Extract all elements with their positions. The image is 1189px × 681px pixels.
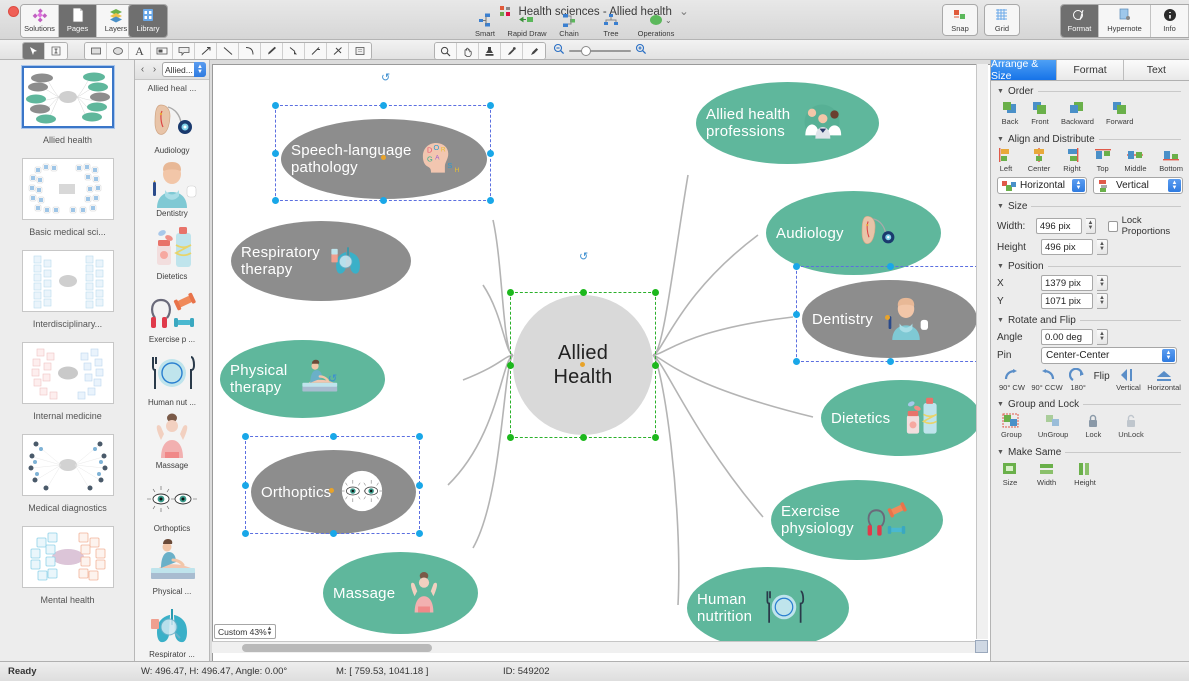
same-width-icon	[1038, 461, 1056, 477]
distribute-horizontal-stepper-icon[interactable]: ▲▼	[1072, 179, 1085, 192]
svg-text:O: O	[433, 142, 439, 151]
node-label: Orthoptics	[261, 484, 331, 501]
smart-connector-icon[interactable]	[283, 43, 305, 59]
canvas-zoom-value: Custom 43%	[218, 627, 267, 637]
inspector-panel[interactable]: Arrange & Size Format Text ▼ Order Back	[990, 60, 1189, 661]
align-middle-button[interactable]: Middle	[1124, 147, 1146, 173]
pin-stepper-icon[interactable]: ▲▼	[1162, 349, 1175, 362]
zoom-slider[interactable]	[569, 45, 631, 57]
library-item-label: Orthoptics	[154, 524, 190, 533]
distribute-vertical-icon	[1098, 180, 1112, 192]
x-input[interactable]: 1379 pix	[1041, 275, 1093, 291]
library-item-human-nutrition[interactable]: Human nut ...	[135, 347, 209, 410]
page-thumbnail	[22, 434, 114, 496]
node-exercise-physiology[interactable]: Exercisephysiology	[771, 480, 943, 560]
node-pin-dot	[381, 155, 386, 160]
page-thumbnail	[22, 526, 114, 588]
library-item-massage[interactable]: Massage	[135, 410, 209, 473]
angle-stepper-icon[interactable]: ▲▼	[1097, 329, 1108, 345]
align-bottom-label: Bottom	[1159, 164, 1183, 173]
section-header-order[interactable]: ▼ Order	[991, 83, 1189, 99]
flip-vertical-label: Vertical	[1116, 383, 1141, 392]
order-forward-label: Forward	[1106, 117, 1134, 126]
eyes-icon	[145, 475, 199, 523]
plate-cutlery-icon	[758, 586, 810, 631]
smart-icon	[477, 12, 493, 28]
section-header-rotate-flip[interactable]: ▼ Rotate and Flip	[991, 312, 1189, 328]
node-label: Humannutrition	[697, 591, 752, 625]
svg-text:⌄: ⌄	[665, 16, 672, 25]
node-human-nutrition[interactable]: Humannutrition	[687, 567, 849, 649]
toolbar-button-pages[interactable]: Pages	[59, 5, 97, 37]
section-make-same: ▼ Make Same Size Width Height	[991, 442, 1189, 490]
ellipse-icon[interactable]	[107, 43, 129, 59]
disclosure-triangle-icon[interactable]: ▼	[997, 136, 1004, 143]
library-item-label: Dietetics	[157, 272, 188, 281]
same-height-label: Height	[1074, 478, 1096, 487]
toolbar-button-library[interactable]: Library	[129, 5, 167, 37]
page-thumbnail	[22, 250, 114, 312]
tab-format[interactable]: Format	[1057, 60, 1123, 80]
width-input[interactable]: 496 pix	[1036, 218, 1082, 234]
node-label: Respiratorytherapy	[241, 244, 320, 278]
toolbar-button-grid[interactable]: Grid	[984, 4, 1020, 36]
align-right-button[interactable]: Right	[1063, 147, 1081, 173]
rotate-cw-label: 90° CW	[999, 383, 1025, 392]
make-same-buttons: Size Width Height	[991, 460, 1189, 490]
order-forward-button[interactable]: Forward	[1106, 100, 1134, 126]
zoom-out-icon[interactable]	[553, 43, 565, 58]
toolbar-button-operations[interactable]: ⌄ Operations	[632, 10, 680, 42]
lungs-icon	[145, 601, 199, 649]
toolbar-button-hypernote[interactable]: Hypernote	[1099, 5, 1151, 37]
supplements-icon	[145, 223, 199, 271]
library-item-label: Physical ...	[153, 587, 192, 596]
align-top-icon	[1094, 147, 1112, 163]
order-front-label: Front	[1031, 117, 1049, 126]
toolbar-label-rapid-draw: Rapid Draw	[507, 29, 546, 38]
gym-equipment-icon	[145, 286, 199, 334]
library-item-audiology[interactable]: Audiology	[135, 95, 209, 158]
disclosure-triangle-icon[interactable]: ▼	[997, 88, 1004, 95]
inspector-tabs: Arrange & Size Format Text	[991, 60, 1189, 81]
speech-brain-icon: DORGASH	[418, 138, 462, 181]
title-bar: Health sciences - Allied health ⌄ Soluti…	[0, 0, 1189, 40]
note-icon[interactable]	[349, 43, 371, 59]
svg-text:H: H	[454, 166, 459, 173]
chevron-left-icon[interactable]: ‹	[138, 64, 147, 75]
hand-icon[interactable]	[457, 43, 479, 59]
operations-icon: ⌄	[648, 12, 664, 28]
angle-input[interactable]: 0.00 deg	[1041, 329, 1093, 345]
library-item-respiratory[interactable]: Respirator ...	[135, 599, 209, 658]
align-center-button[interactable]: Center	[1028, 147, 1051, 173]
toolbar-button-info[interactable]: Info	[1151, 5, 1189, 37]
library-selector[interactable]: Allied... ▲▼	[162, 62, 206, 77]
section-title: Align and Distribute	[1008, 134, 1095, 145]
toolbar-button-tree[interactable]: Tree	[590, 10, 632, 42]
same-width-button[interactable]: Width	[1037, 461, 1056, 487]
canvas-area[interactable]: AlliedHealth ↺ Speech-languagepathology	[210, 60, 990, 661]
flip-label: Flip	[1094, 368, 1110, 382]
align-left-button[interactable]: Left	[997, 147, 1015, 173]
order-back-button[interactable]: Back	[1001, 100, 1019, 126]
rotate-buttons-row: 90° CW 90° CCW 180° Flip Vertical	[991, 365, 1189, 394]
toolbar-label-grid: Grid	[995, 24, 1009, 33]
y-input[interactable]: 1071 pix	[1041, 293, 1093, 309]
toolbar-button-format[interactable]: Format	[1061, 5, 1099, 37]
zoom-slider-thumb[interactable]	[581, 46, 591, 56]
group-lock-buttons: Group UnGroup Lock UnLock	[991, 412, 1189, 442]
library-item-dietetics[interactable]: Dietetics	[135, 221, 209, 284]
line-icon[interactable]	[217, 43, 239, 59]
toolbar-button-chain[interactable]: Chain	[548, 10, 590, 42]
pin-field-row: Pin Center-Center ▲▼	[991, 346, 1189, 365]
application-window: Health sciences - Allied health ⌄ Soluti…	[0, 0, 1189, 681]
align-top-label: Top	[1097, 164, 1109, 173]
distribute-vertical-select[interactable]: Vertical ▲▼	[1093, 177, 1183, 194]
paint-brush-icon[interactable]	[523, 43, 545, 59]
rotate-ccw-label: 90° CCW	[1031, 383, 1062, 392]
svg-text:S: S	[447, 160, 452, 169]
section-header-group-lock[interactable]: ▼ Group and Lock	[991, 396, 1189, 412]
rotate-ccw-icon	[1038, 368, 1056, 382]
tab-text[interactable]: Text	[1124, 60, 1189, 80]
library-panel[interactable]: ‹ › Allied... ▲▼ Allied heal ... Audiolo…	[135, 60, 210, 661]
physiotherapy-icon	[145, 538, 199, 586]
node-dietetics[interactable]: Dietetics	[821, 380, 981, 456]
align-left-label: Left	[1000, 164, 1013, 173]
section-title: Order	[1008, 86, 1034, 97]
chain-icon	[561, 12, 577, 28]
toolbar-label-layers: Layers	[105, 24, 128, 33]
plate-cutlery-icon	[145, 349, 199, 397]
arc-icon[interactable]	[239, 43, 261, 59]
rotate-180-label: 180°	[1070, 383, 1086, 392]
disclosure-triangle-icon[interactable]: ▼	[997, 449, 1004, 456]
canvas-vertical-scrollbar[interactable]	[976, 64, 988, 639]
node-label: Massage	[333, 585, 395, 602]
document-canvas[interactable]: AlliedHealth ↺ Speech-languagepathology	[212, 64, 990, 661]
section-header-position[interactable]: ▼ Position	[991, 258, 1189, 274]
section-header-align[interactable]: ▼ Align and Distribute	[991, 131, 1189, 147]
disclosure-triangle-icon[interactable]: ▼	[997, 203, 1004, 210]
supplements-icon	[896, 396, 944, 441]
rotate-180-icon	[1069, 368, 1087, 382]
arrow-icon[interactable]	[195, 43, 217, 59]
hypernote-icon	[1117, 7, 1133, 23]
node-physical-therapy[interactable]: Physicaltherapy	[220, 340, 385, 418]
section-order: ▼ Order Back Front Backward	[991, 81, 1189, 129]
order-back-icon	[1001, 100, 1019, 116]
node-pin-dot	[580, 362, 585, 367]
stamp-icon[interactable]	[479, 43, 501, 59]
order-forward-icon	[1111, 100, 1129, 116]
pages-icon	[70, 7, 86, 23]
toolbar-right-group: Snap Grid	[942, 4, 1026, 36]
group-label: Group	[1001, 430, 1022, 439]
flip-horizontal-icon	[1155, 368, 1173, 382]
tree-icon	[603, 12, 619, 28]
height-input[interactable]: 496 pix	[1041, 239, 1093, 255]
ungroup-button[interactable]: UnGroup	[1038, 413, 1068, 439]
node-audiology[interactable]: Audiology	[766, 191, 941, 275]
flip-horizontal-button[interactable]: Horizontal	[1147, 368, 1181, 392]
disclosure-triangle-icon[interactable]: ▼	[997, 317, 1004, 324]
canvas-zoom-selector[interactable]: Custom 43% ▲▼	[214, 624, 276, 639]
status-mouse-position: M: [ 759.53, 1041.18 ]	[336, 666, 428, 677]
library-header: ‹ › Allied... ▲▼	[135, 60, 209, 80]
hearing-aid-icon	[145, 97, 199, 145]
rotate-handle-icon[interactable]: ↺	[328, 372, 337, 385]
same-height-button[interactable]: Height	[1074, 461, 1096, 487]
section-title: Position	[1008, 261, 1044, 272]
info-icon	[1162, 7, 1178, 23]
library-item-label: Respirator ...	[149, 650, 195, 658]
x-stepper-icon[interactable]: ▲▼	[1097, 275, 1108, 291]
order-front-icon	[1031, 100, 1049, 116]
toolbar-label-solutions: Solutions	[24, 24, 55, 33]
page-item-interdisciplinary[interactable]: Interdisciplinary...	[0, 244, 135, 336]
node-label: Allied healthprofessions	[706, 106, 790, 140]
shape-tools-group: A	[84, 42, 372, 60]
toolbar-label-format: Format	[1068, 24, 1092, 33]
y-stepper-icon[interactable]: ▲▼	[1097, 293, 1108, 309]
lock-icon	[1084, 413, 1102, 429]
section-title: Size	[1008, 201, 1027, 212]
rotate-handle-icon[interactable]: ↺	[579, 250, 588, 263]
align-left-icon	[997, 147, 1015, 163]
status-object-id: ID: 549202	[503, 666, 549, 677]
zoom-icon[interactable]	[435, 43, 457, 59]
distribute-vertical-stepper-icon[interactable]: ▲▼	[1168, 179, 1181, 192]
page-label: Mental health	[40, 595, 94, 605]
page-label: Internal medicine	[33, 411, 102, 421]
same-size-icon	[1001, 461, 1019, 477]
node-pin-dot	[329, 488, 334, 493]
chevron-right-icon[interactable]: ›	[150, 64, 159, 75]
text-cursor-icon[interactable]	[45, 43, 67, 59]
page-thumbnail	[22, 66, 114, 128]
svg-text:A: A	[435, 154, 440, 161]
align-bottom-button[interactable]: Bottom	[1159, 147, 1183, 173]
section-header-size[interactable]: ▼ Size	[991, 198, 1189, 214]
distribute-horizontal-value: Horizontal	[1020, 180, 1065, 191]
distribute-horizontal-select[interactable]: Horizontal ▲▼	[997, 177, 1087, 194]
disclosure-triangle-icon[interactable]: ▼	[997, 401, 1004, 408]
status-ready: Ready	[8, 666, 37, 677]
toolbar-button-rapid-draw[interactable]: Rapid Draw	[506, 10, 548, 42]
rotate-cw-button[interactable]: 90° CW	[999, 368, 1025, 392]
align-center-label: Center	[1028, 164, 1051, 173]
view-tools-group	[434, 42, 546, 60]
page-item-basic-medical-sciences[interactable]: Basic medical sci...	[0, 152, 135, 244]
select-tools-group	[22, 42, 68, 60]
svg-text:G: G	[427, 154, 433, 163]
ungroup-icon	[1044, 413, 1062, 429]
library-selector-stepper-icon[interactable]: ▲▼	[194, 62, 206, 77]
align-middle-label: Middle	[1124, 164, 1146, 173]
zoom-slider-group	[553, 43, 647, 58]
angle-label: Angle	[997, 332, 1037, 343]
toolbar-label-snap: Snap	[951, 24, 969, 33]
library-item-exercise-physiology[interactable]: Exercise p ...	[135, 284, 209, 347]
library-item-label: Exercise p ...	[149, 335, 195, 344]
group-icon	[1002, 413, 1020, 429]
y-field-row: Y 1071 pix ▲▼	[991, 292, 1189, 310]
node-label: Exercisephysiology	[781, 503, 854, 537]
order-backward-icon	[1068, 100, 1086, 116]
node-massage[interactable]: Massage	[323, 552, 478, 634]
canvas-resize-grip[interactable]	[975, 640, 988, 653]
round-connector-icon[interactable]	[327, 43, 349, 59]
toolbar-button-smart[interactable]: Smart	[464, 10, 506, 42]
text-icon[interactable]: A	[129, 43, 151, 59]
toolbar-label-hypernote: Hypernote	[1107, 24, 1142, 33]
align-bottom-icon	[1162, 147, 1180, 163]
library-item-label: Massage	[156, 461, 188, 470]
title-chevron-down-icon[interactable]: ⌄	[679, 6, 689, 18]
align-right-label: Right	[1063, 164, 1081, 173]
distribute-vertical-value: Vertical	[1116, 180, 1149, 191]
distribute-row: Horizontal ▲▼ Vertical ▲▼	[991, 173, 1189, 196]
same-size-button[interactable]: Size	[1001, 461, 1019, 487]
library-items-list[interactable]: Audiology Dentistry Dietetics	[135, 95, 209, 658]
page-thumbnail	[22, 158, 114, 220]
toolbar-label-smart: Smart	[475, 29, 495, 38]
align-middle-icon	[1126, 147, 1144, 163]
library-icon	[140, 7, 156, 23]
height-stepper-icon[interactable]: ▲▼	[1097, 239, 1108, 255]
order-backward-button[interactable]: Backward	[1061, 100, 1094, 126]
hearing-aid-icon	[850, 211, 902, 256]
direct-connector-icon[interactable]	[305, 43, 327, 59]
flip-vertical-button[interactable]: Vertical	[1116, 368, 1141, 392]
lock-button[interactable]: Lock	[1084, 413, 1102, 439]
zoom-stepper-icon[interactable]: ▲▼	[265, 625, 274, 638]
order-front-button[interactable]: Front	[1031, 100, 1049, 126]
angle-field-row: Angle 0.00 deg ▲▼	[991, 328, 1189, 346]
drawing-toolbar: A	[0, 40, 1189, 60]
pages-panel[interactable]: Allied health	[0, 60, 135, 661]
disclosure-triangle-icon[interactable]: ▼	[997, 263, 1004, 270]
toolbar-library-group: Library	[128, 4, 168, 38]
same-height-icon	[1076, 461, 1094, 477]
library-item-label: Dentistry	[156, 209, 188, 218]
node-allied-health-professions[interactable]: Allied healthprofessions	[696, 82, 879, 164]
page-label: Basic medical sci...	[29, 227, 106, 237]
flip-vertical-icon	[1119, 368, 1137, 382]
lock-proportions-label: Lock Proportions	[1122, 215, 1183, 237]
tab-arrange-size[interactable]: Arrange & Size	[991, 60, 1057, 80]
toolbar-mid-group: Smart Rapid Draw Chain Tree	[464, 10, 680, 42]
same-size-label: Size	[1003, 478, 1018, 487]
canvas-horizontal-scrollbar[interactable]	[212, 641, 976, 653]
toolbar-label-operations: Operations	[638, 29, 675, 38]
order-buttons: Back Front Backward Forward	[991, 99, 1189, 129]
page-label: Medical diagnostics	[28, 503, 107, 513]
format-icon	[1072, 7, 1088, 23]
section-size: ▼ Size Width: 496 pix ▲▼ Lock Proportion…	[991, 196, 1189, 256]
toolbar-label-library: Library	[137, 24, 160, 33]
order-back-label: Back	[1002, 117, 1019, 126]
grid-icon	[994, 7, 1010, 23]
toolbar-label-tree: Tree	[603, 29, 618, 38]
rectangle-icon[interactable]	[85, 43, 107, 59]
pointer-icon[interactable]	[23, 43, 45, 59]
width-label: Width:	[997, 221, 1032, 232]
main-body: Allied health	[0, 60, 1189, 661]
pin-select[interactable]: Center-Center ▲▼	[1041, 347, 1177, 364]
zoom-in-icon[interactable]	[635, 43, 647, 58]
library-item-physical-therapy[interactable]: Physical ...	[135, 536, 209, 599]
page-item-allied-health[interactable]: Allied health	[0, 60, 135, 152]
callout-icon[interactable]	[173, 43, 195, 59]
toolbar-right-group-2: Format Hypernote Info Present	[1060, 4, 1189, 38]
height-label: Height	[997, 242, 1037, 253]
rotate-cw-icon	[1003, 368, 1021, 382]
node-label: Speech-languagepathology	[291, 142, 412, 176]
node-label: Physicaltherapy	[230, 362, 287, 396]
section-group-lock: ▼ Group and Lock Group UnGroup	[991, 394, 1189, 442]
align-top-button[interactable]: Top	[1094, 147, 1112, 173]
dentist-icon	[145, 160, 199, 208]
lock-proportions-checkbox[interactable]	[1108, 221, 1118, 232]
page-label: Interdisciplinary...	[33, 319, 102, 329]
group-button[interactable]: Group	[1001, 413, 1022, 439]
library-selector-value: Allied...	[165, 65, 193, 75]
page-item-internal-medicine[interactable]: Internal medicine	[0, 336, 135, 428]
svg-text:R: R	[440, 146, 445, 153]
page-label: Allied health	[43, 135, 92, 145]
rotate-180-button[interactable]: 180°	[1069, 368, 1087, 392]
toolbar-label-chain: Chain	[559, 29, 579, 38]
distribute-horizontal-icon	[1002, 180, 1016, 192]
massage-icon	[145, 412, 199, 460]
toolbar-button-solutions[interactable]: Solutions	[21, 5, 59, 37]
section-header-make-same[interactable]: ▼ Make Same	[991, 444, 1189, 460]
node-label: Dentistry	[812, 311, 873, 328]
unlock-button[interactable]: UnLock	[1118, 413, 1143, 439]
lock-label: Lock	[1085, 430, 1101, 439]
physiotherapy-icon	[293, 359, 345, 400]
page-item-mental-health[interactable]: Mental health	[0, 520, 135, 612]
library-item-dentistry[interactable]: Dentistry	[135, 158, 209, 221]
same-width-label: Width	[1037, 478, 1056, 487]
ungroup-label: UnGroup	[1038, 430, 1068, 439]
pen-icon[interactable]	[261, 43, 283, 59]
scrollbar-thumb[interactable]	[242, 644, 432, 652]
library-item-label: Human nut ...	[148, 398, 196, 407]
node-pin-dot	[885, 315, 890, 320]
page-item-medical-diagnostics[interactable]: Medical diagnostics	[0, 428, 135, 520]
text-box-icon[interactable]	[151, 43, 173, 59]
rotate-ccw-button[interactable]: 90° CCW	[1031, 368, 1062, 392]
width-stepper-icon[interactable]: ▲▼	[1086, 218, 1096, 234]
library-item-label: Audiology	[154, 146, 189, 155]
section-title: Make Same	[1008, 447, 1061, 458]
node-respiratory-therapy[interactable]: Respiratorytherapy	[231, 221, 411, 301]
rotate-handle-icon[interactable]: ↺	[381, 71, 390, 84]
solutions-icon	[32, 7, 48, 23]
y-label: Y	[997, 296, 1037, 307]
library-title: Allied heal ...	[135, 80, 209, 95]
toolbar-button-snap[interactable]: Snap	[942, 4, 978, 36]
toolbar-label-pages: Pages	[67, 24, 88, 33]
node-label: Dietetics	[831, 410, 890, 427]
library-item-orthoptics[interactable]: Orthoptics	[135, 473, 209, 536]
eyedropper-icon[interactable]	[501, 43, 523, 59]
